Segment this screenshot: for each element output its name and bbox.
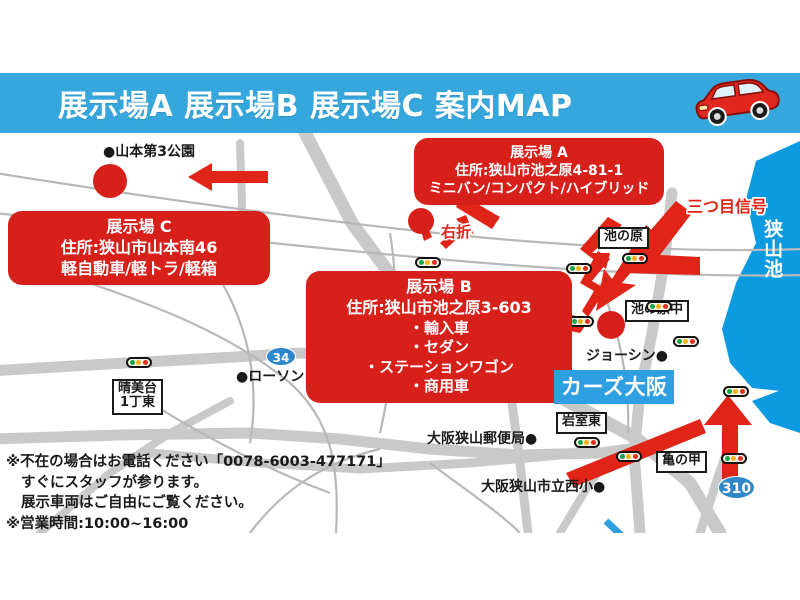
traffic-light-postoffice: [616, 451, 642, 462]
traffic-light-ikenohara: [622, 253, 648, 264]
marker-showroom-a: [408, 208, 434, 234]
callout-c-address: 住所:狭山市山本南46: [18, 238, 260, 259]
traffic-light-center: [566, 263, 592, 274]
footer-line-phone: ※不在の場合はお電話ください「0078-6003-477171」: [6, 452, 426, 473]
traffic-light-kamenoko: [723, 386, 749, 397]
map-flyer: 展示場A 展示場B 展示場C 案内MAP: [0, 0, 800, 600]
sign-iwamuro-higashi: 岩室東: [556, 412, 607, 434]
callout-showroom-a: 展示場 A 住所:狭山市池之原4-81-1 ミニバン/コンパクト/ハイブリッド: [414, 138, 664, 205]
callout-c-vehicles: 軽自動車/軽トラ/軽箱: [18, 259, 260, 280]
sign-harumidai: 晴美台 1丁東: [112, 379, 163, 415]
marker-showroom-c: [93, 164, 127, 198]
annotation-turn-right: 右折: [441, 221, 471, 242]
sign-kamenoko: 亀の甲: [656, 451, 707, 473]
poi-nishi-elementary: 大阪狭山市立西小●: [481, 476, 605, 496]
sign-ikenohara: 池の原: [598, 227, 649, 249]
callout-b-item-0: ・輸入車: [316, 319, 562, 339]
route-shield-310: 310: [718, 476, 755, 499]
poi-lawson: ●ローソン: [236, 366, 304, 386]
footer-notes: ※不在の場合はお電話ください「0078-6003-477171」 すぐにスタッフ…: [6, 452, 426, 534]
callout-a-title: 展示場 A: [424, 144, 654, 162]
traffic-light-joshin: [673, 336, 699, 347]
poi-yamamoto-park: ●山本第3公園: [103, 141, 195, 161]
marker-showroom-b: [597, 311, 625, 339]
arrow-to-showroom-c: [188, 163, 268, 191]
header-banner: 展示場A 展示場B 展示場C 案内MAP: [0, 73, 800, 133]
callout-c-title: 展示場 C: [18, 217, 260, 238]
traffic-light-iwamuro: [574, 437, 600, 448]
callout-a-vehicles: ミニバン/コンパクト/ハイブリッド: [424, 180, 654, 198]
footer-line-hours: ※営業時間:10:00~16:00: [6, 514, 426, 535]
lake-label-sayamaike: 狭山池: [762, 219, 782, 279]
callout-showroom-b: 展示場 B 住所:狭山市池之原3-603 ・輸入車 ・セダン ・ステーションワゴ…: [306, 271, 572, 403]
arrow-bottom-right-up: [704, 395, 752, 479]
traffic-light-harumidai: [126, 357, 152, 368]
destination-label-cars-osaka: カーズ大阪: [554, 370, 674, 404]
callout-b-address: 住所:狭山市池之原3-603: [316, 298, 562, 319]
traffic-light-east: [721, 453, 747, 464]
page-title: 展示場A 展示場B 展示場C 案内MAP: [58, 81, 573, 125]
sign-harumidai-line2: 1丁東: [120, 395, 155, 410]
red-car-icon: [684, 70, 784, 128]
callout-showroom-c: 展示場 C 住所:狭山市山本南46 軽自動車/軽トラ/軽箱: [8, 211, 270, 285]
traffic-light-ikenoharanaka: [646, 301, 672, 312]
poi-post-office: 大阪狭山郵便局●: [427, 428, 537, 448]
annotation-third-signal: 三つ目信号: [687, 193, 767, 217]
callout-b-item-2: ・ステーションワゴン: [316, 358, 562, 378]
poi-joshin: ジョーシン●: [586, 345, 668, 365]
sign-harumidai-line1: 晴美台: [118, 381, 157, 396]
callout-b-item-1: ・セダン: [316, 338, 562, 358]
callout-b-title: 展示場 B: [316, 277, 562, 298]
callout-a-address: 住所:狭山市池之原4-81-1: [424, 162, 654, 180]
callout-b-item-3: ・商用車: [316, 377, 562, 397]
footer-line-staff: すぐにスタッフが参ります。: [6, 473, 426, 494]
traffic-light-migisetsu: [415, 257, 441, 268]
route-shield-34: 34: [266, 347, 296, 366]
road-thin-7: [430, 463, 520, 533]
footer-line-freeview: 展示車両はご自由にご覧ください。: [6, 493, 426, 514]
